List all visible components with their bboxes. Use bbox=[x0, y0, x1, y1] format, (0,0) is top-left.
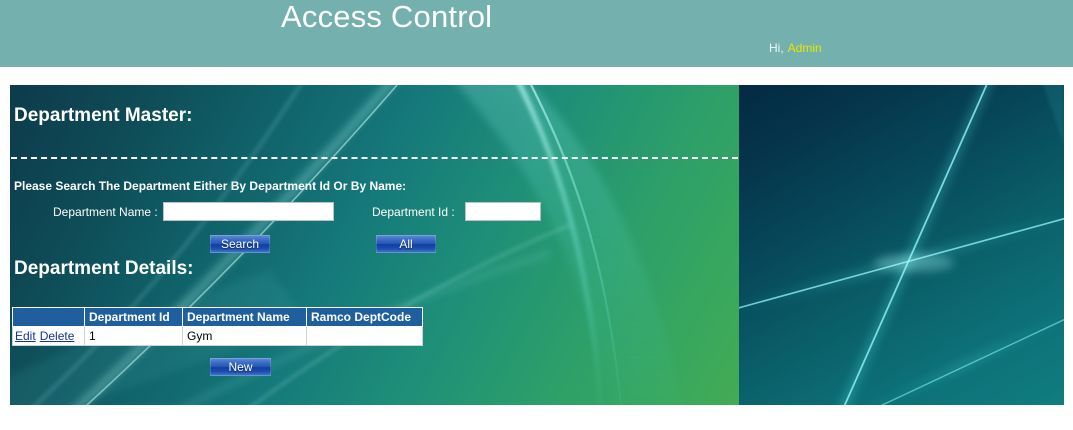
department-id-input[interactable] bbox=[465, 202, 541, 221]
column-header-department-name: Department Name bbox=[183, 308, 307, 327]
search-form: Department Name : Department Id : bbox=[10, 201, 739, 225]
department-id-label: Department Id : bbox=[372, 205, 455, 219]
department-name-label: Department Name : bbox=[53, 205, 158, 219]
side-decorative-panel bbox=[739, 85, 1064, 405]
column-header-department-id: Department Id bbox=[85, 308, 183, 327]
search-instruction-text: Please Search The Department Either By D… bbox=[14, 179, 406, 193]
table-row: EditDelete 1 Gym bbox=[13, 327, 423, 346]
current-user-link[interactable]: Admin bbox=[788, 41, 822, 55]
row-actions-cell: EditDelete bbox=[13, 327, 85, 346]
dashed-divider bbox=[11, 157, 738, 159]
app-banner: Access Control Hi,Admin bbox=[0, 0, 1073, 67]
main-panel-decorative-streaks bbox=[10, 85, 739, 405]
all-button[interactable]: All bbox=[376, 235, 436, 253]
section-heading-department-master: Department Master: bbox=[14, 105, 192, 127]
content-shell: Department Master: Please Search The Dep… bbox=[10, 85, 1064, 405]
column-header-ramco-deptcode: Ramco DeptCode bbox=[307, 308, 423, 327]
greeting: Hi,Admin bbox=[769, 41, 822, 55]
department-details-table: Department Id Department Name Ramco Dept… bbox=[12, 307, 423, 346]
main-panel: Department Master: Please Search The Dep… bbox=[10, 85, 739, 405]
column-header-actions bbox=[13, 308, 85, 327]
table-header-row: Department Id Department Name Ramco Dept… bbox=[13, 308, 423, 327]
cell-department-id: 1 bbox=[85, 327, 183, 346]
new-button[interactable]: New bbox=[210, 358, 271, 376]
greeting-prefix: Hi, bbox=[769, 41, 784, 55]
side-panel-decorative-rays bbox=[739, 85, 1064, 405]
page-title: Access Control bbox=[281, 0, 492, 35]
edit-link[interactable]: Edit bbox=[15, 329, 36, 343]
search-button[interactable]: Search bbox=[210, 235, 270, 253]
delete-link[interactable]: Delete bbox=[40, 329, 75, 343]
cell-ramco-deptcode bbox=[307, 327, 423, 346]
section-heading-department-details: Department Details: bbox=[14, 258, 194, 280]
department-name-input[interactable] bbox=[163, 202, 334, 221]
cell-department-name: Gym bbox=[183, 327, 307, 346]
